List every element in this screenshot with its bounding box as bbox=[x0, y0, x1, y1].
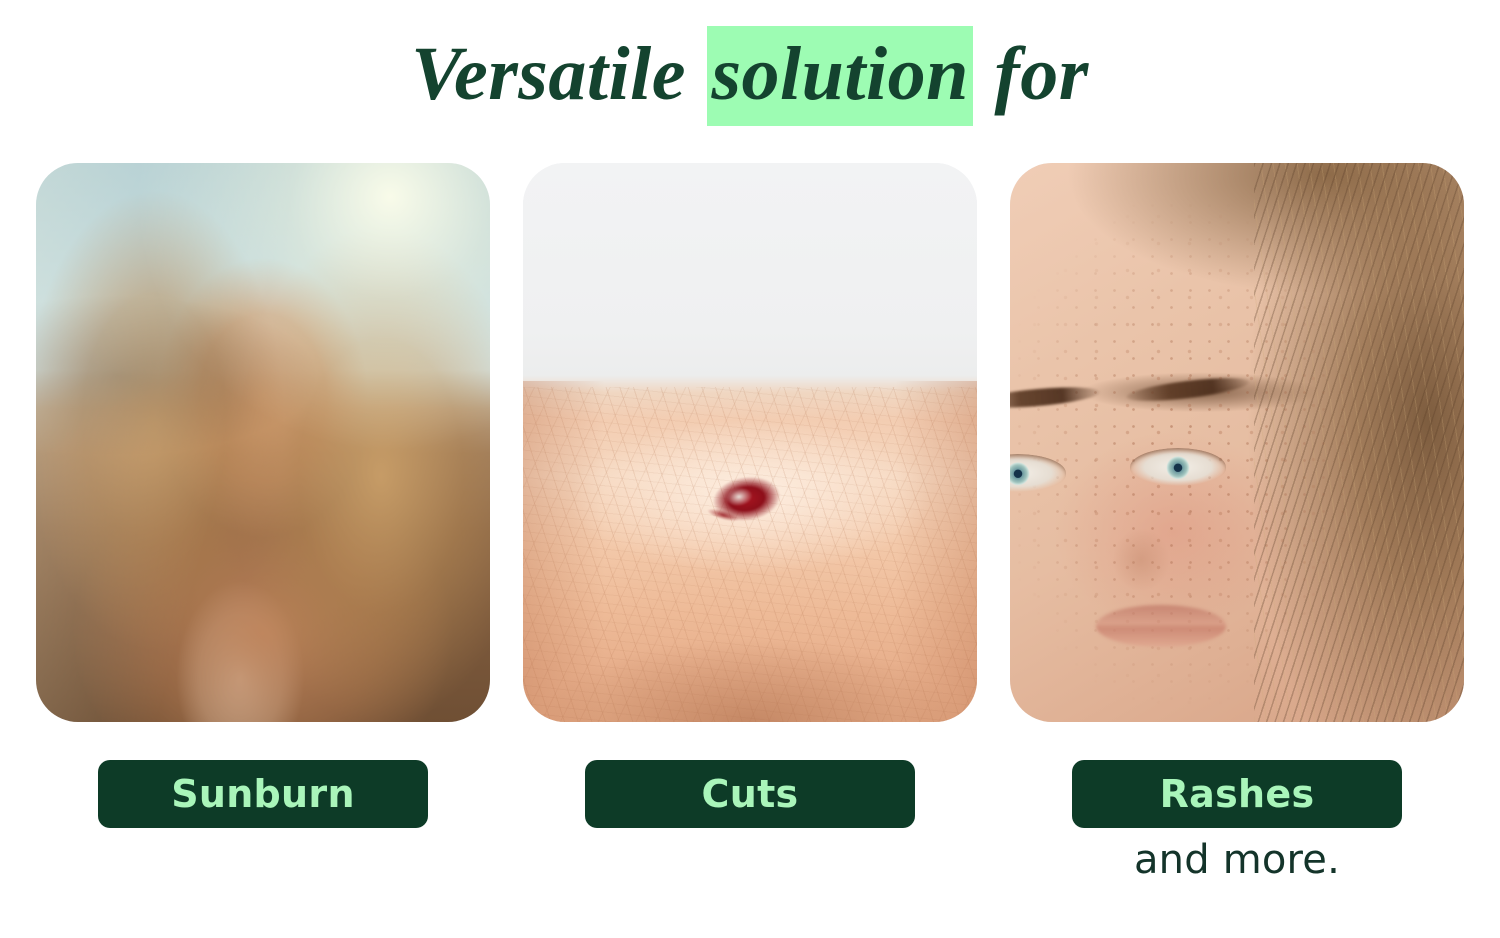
headline-part-two: for bbox=[992, 32, 1090, 116]
label-column-cuts: Cuts bbox=[523, 760, 977, 828]
headline-highlight-word: solution bbox=[707, 26, 972, 126]
headline-part-one: Versatile bbox=[409, 32, 688, 116]
image-card-sunburn[interactable] bbox=[36, 163, 490, 722]
nose-shading bbox=[1098, 515, 1184, 605]
label-pill-sunburn[interactable]: Sunburn bbox=[98, 760, 428, 828]
label-column-rashes: Rashes and more. bbox=[1010, 760, 1464, 880]
and-more-text: and more. bbox=[1134, 840, 1340, 880]
infographic-page: Versatile solution for bbox=[0, 0, 1500, 938]
eye-right bbox=[1130, 448, 1226, 486]
label-pill-cuts-text: Cuts bbox=[702, 775, 799, 813]
sunburn-photo bbox=[36, 163, 490, 722]
label-pill-sunburn-text: Sunburn bbox=[171, 775, 355, 813]
image-card-rashes[interactable] bbox=[1010, 163, 1464, 722]
image-card-row bbox=[36, 163, 1464, 722]
label-pill-rashes[interactable]: Rashes bbox=[1072, 760, 1402, 828]
label-column-sunburn: Sunburn bbox=[36, 760, 490, 828]
label-row: Sunburn Cuts Rashes and more. bbox=[36, 760, 1464, 880]
cuts-photo bbox=[523, 163, 977, 722]
label-pill-cuts[interactable]: Cuts bbox=[585, 760, 915, 828]
freckles-texture bbox=[1010, 163, 1464, 722]
label-pill-rashes-text: Rashes bbox=[1160, 775, 1315, 813]
page-title: Versatile solution for bbox=[0, 36, 1500, 112]
rashes-photo bbox=[1010, 163, 1464, 722]
image-card-cuts[interactable] bbox=[523, 163, 977, 722]
skin-creases bbox=[523, 387, 977, 722]
lips bbox=[1096, 605, 1226, 647]
